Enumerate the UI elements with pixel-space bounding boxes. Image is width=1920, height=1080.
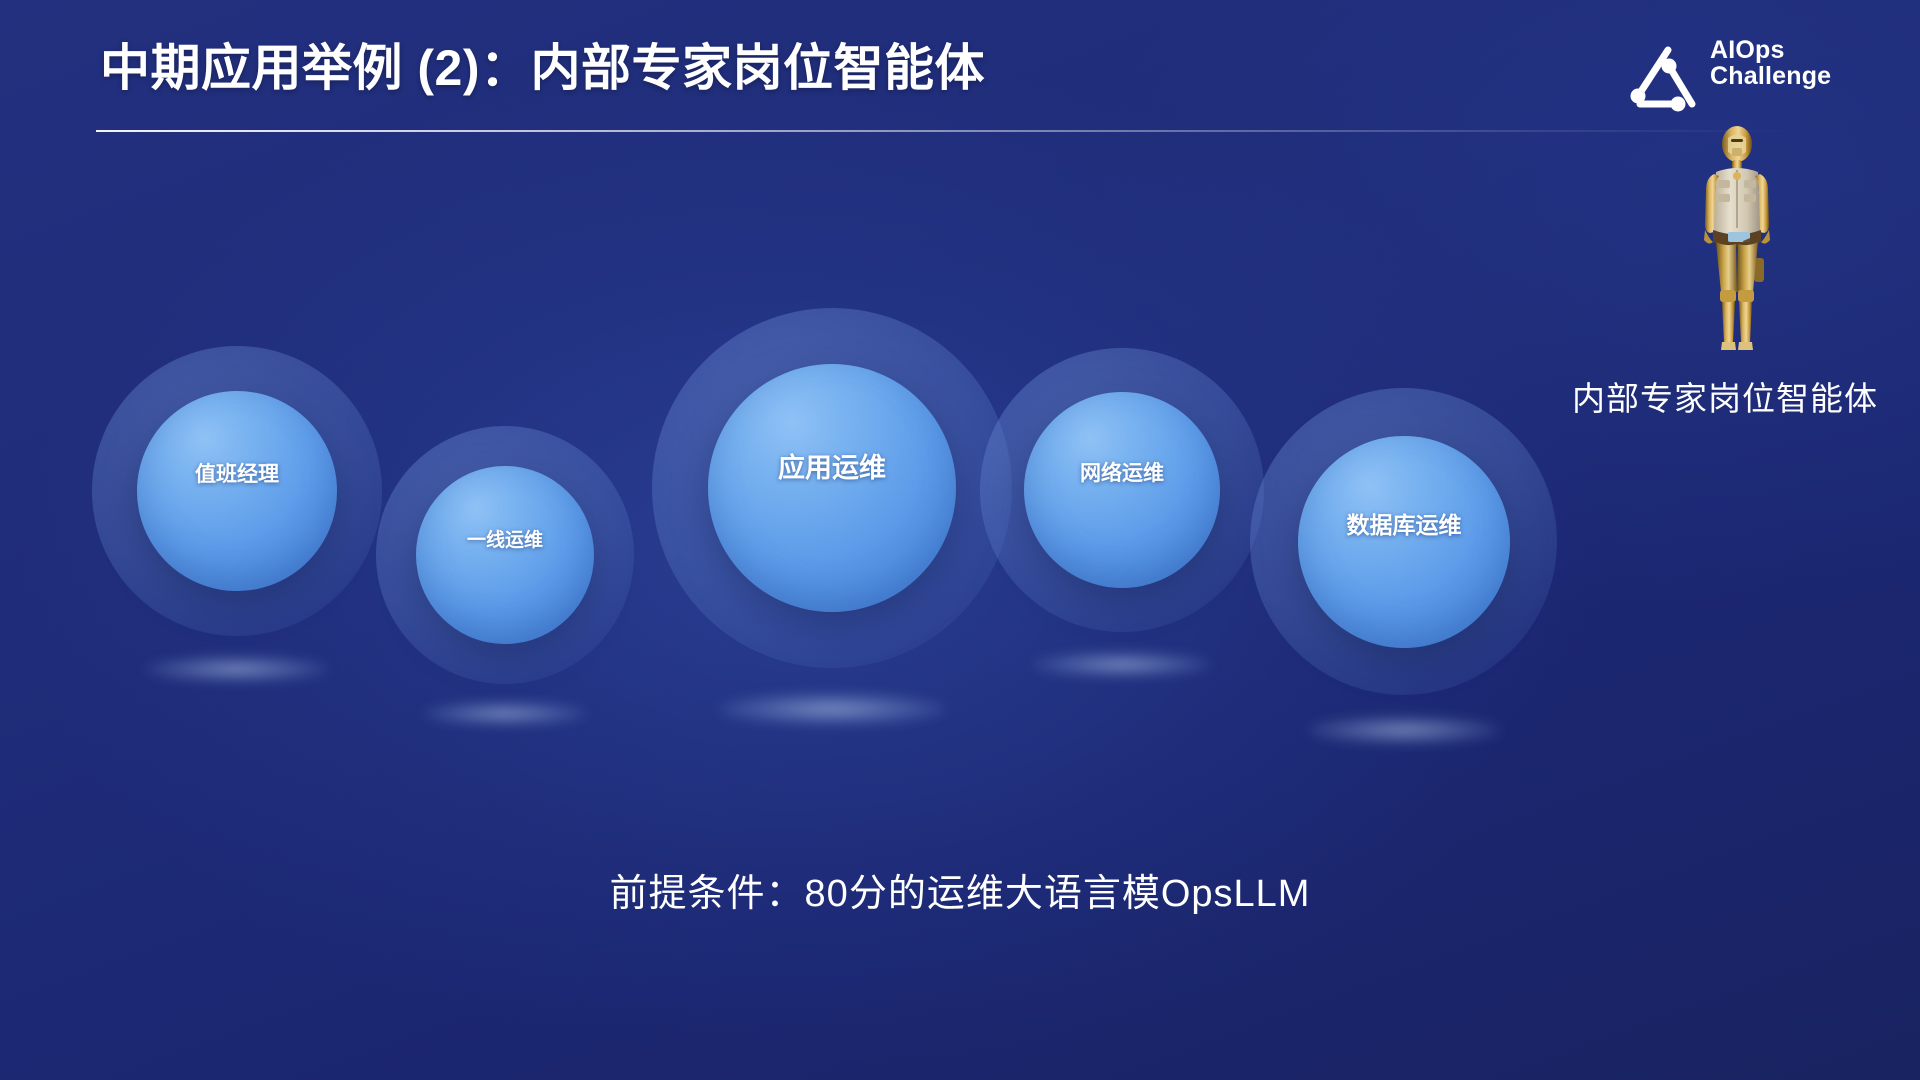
triangle-nodes-logo-icon: [1628, 40, 1702, 112]
sphere-label: 网络运维: [1080, 457, 1164, 487]
logo-wordmark: AIOps Challenge: [1710, 38, 1831, 89]
sphere-label: 一线运维: [467, 525, 543, 552]
sphere-body[interactable]: 值班经理: [137, 391, 337, 591]
sphere-floor-glow: [1032, 652, 1212, 677]
sphere-body[interactable]: 网络运维: [1024, 392, 1220, 588]
sphere-floor-glow: [1306, 716, 1501, 744]
logo-line-2: Challenge: [1710, 64, 1831, 90]
role-sphere-3[interactable]: 应用运维: [652, 308, 1012, 668]
role-sphere-1[interactable]: 值班经理: [92, 346, 382, 636]
sphere-body[interactable]: 应用运维: [708, 364, 956, 612]
sphere-label: 数据库运维: [1347, 506, 1462, 540]
sphere-body[interactable]: 一线运维: [416, 466, 594, 644]
sphere-label: 应用运维: [778, 446, 886, 485]
role-sphere-2[interactable]: 一线运维: [376, 426, 634, 684]
sphere-body[interactable]: 数据库运维: [1298, 436, 1510, 648]
sphere-floor-glow: [718, 693, 946, 725]
sphere-label: 值班经理: [195, 458, 279, 488]
sphere-floor-glow: [423, 702, 587, 725]
page-title: 中期应用举例 (2)：内部专家岗位智能体: [100, 28, 985, 100]
slide-canvas: 中期应用举例 (2)：内部专家岗位智能体 AIOps Challenge: [0, 0, 1920, 1080]
header-divider: [96, 130, 1796, 132]
role-sphere-4[interactable]: 网络运维: [980, 348, 1264, 632]
aiops-challenge-logo: AIOps Challenge: [1628, 36, 1896, 116]
role-sphere-5[interactable]: 数据库运维: [1250, 388, 1557, 695]
logo-line-1: AIOps: [1710, 38, 1831, 64]
slide-caption: 前提条件：80分的运维大语言模OpsLLM: [0, 862, 1920, 917]
humanoid-robot-figure: [1682, 118, 1792, 358]
sphere-floor-glow: [145, 656, 329, 682]
agent-label: 内部专家岗位智能体: [1530, 372, 1920, 420]
